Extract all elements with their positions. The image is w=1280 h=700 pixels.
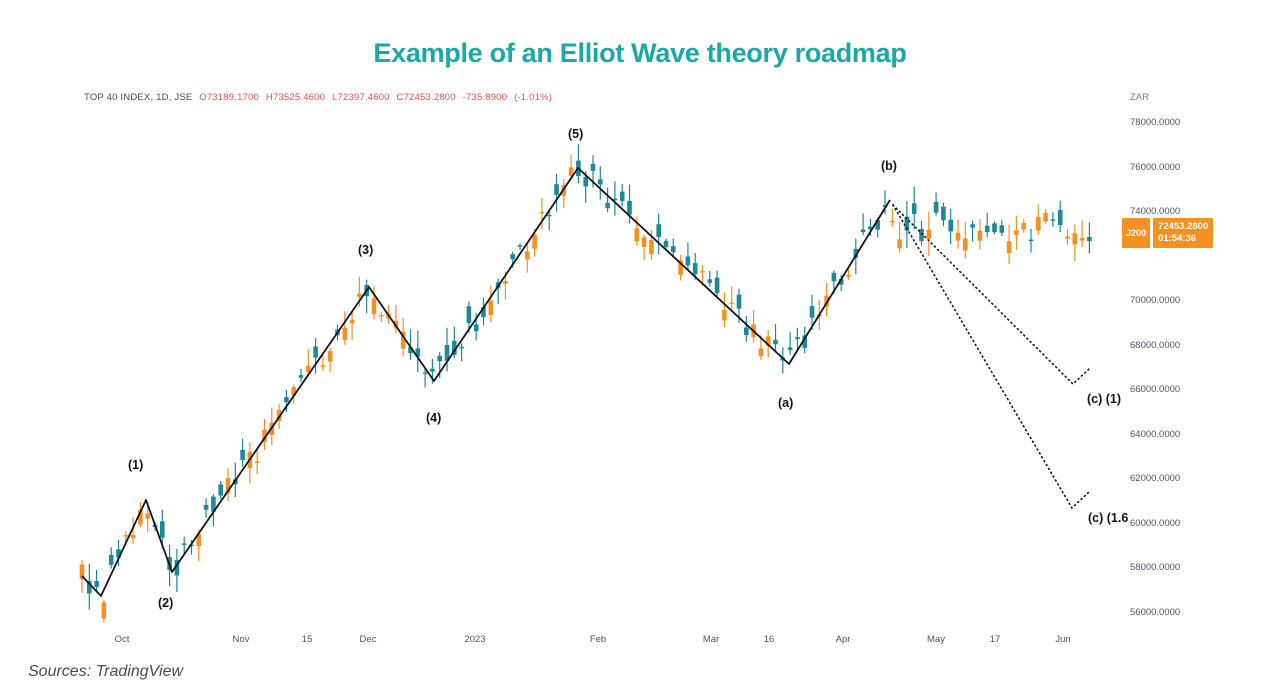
- candle-body: [459, 347, 464, 349]
- candle-body: [605, 203, 610, 208]
- candle-wick: [607, 187, 608, 212]
- source-caption: Sources: TradingView: [28, 663, 183, 681]
- time-tick: 2023: [464, 634, 485, 645]
- candle-wick: [987, 213, 988, 237]
- wave-label: (b): [881, 159, 897, 173]
- slide-canvas: Example of an Elliot Wave theory roadmap…: [0, 0, 1280, 700]
- candle-body: [708, 279, 713, 283]
- candle-body: [642, 237, 647, 247]
- candlestick-series: [78, 110, 1118, 635]
- projection-1.6: [893, 205, 1090, 508]
- wave-label: (3): [358, 243, 373, 257]
- price-tag-price: 72453.2800: [1158, 221, 1208, 233]
- legend-symbol: TOP 40 INDEX, 1D, JSE: [84, 92, 192, 103]
- candle-wick: [133, 517, 134, 544]
- candle-body: [94, 581, 99, 587]
- candle-body: [109, 555, 114, 565]
- candle-wick: [790, 332, 791, 355]
- candle-body: [941, 207, 946, 221]
- legend-open: O73189.1700: [199, 92, 259, 103]
- candle-body: [547, 215, 552, 216]
- candle-wick: [498, 278, 499, 304]
- candle-body: [722, 310, 727, 320]
- price-tick: 70000.0000: [1130, 295, 1180, 306]
- wave-label: (4): [426, 411, 441, 425]
- candle-wick: [352, 312, 353, 340]
- candle-wick: [366, 280, 367, 314]
- candle-body: [1073, 233, 1078, 244]
- candle-body: [810, 306, 815, 318]
- projection-group: [893, 205, 1090, 508]
- time-tick: Nov: [233, 634, 250, 645]
- candle-body: [124, 535, 129, 536]
- candle-body: [1000, 225, 1005, 232]
- legend-low: L72397.4600: [332, 92, 390, 103]
- candle-body: [372, 298, 377, 314]
- legend-change-percent: (-1.01%): [514, 92, 552, 103]
- candle-wick: [972, 221, 973, 242]
- candle-body: [671, 246, 676, 252]
- candle-body: [357, 294, 362, 297]
- candle-body: [635, 228, 640, 241]
- candle-body: [532, 235, 537, 249]
- candle-body: [510, 254, 515, 259]
- candle-wick: [461, 343, 462, 361]
- candle-body: [729, 302, 734, 303]
- legend-change: -735.8900: [463, 92, 508, 103]
- candle-group: [80, 144, 1092, 622]
- price-tick: 66000.0000: [1130, 384, 1180, 395]
- candle-body: [554, 184, 559, 195]
- candle-body: [1080, 238, 1085, 240]
- candle-body: [525, 251, 530, 259]
- price-tick: 68000.0000: [1130, 340, 1180, 351]
- candle-wick: [775, 324, 776, 353]
- candle-body: [430, 369, 435, 372]
- candle-body: [489, 301, 494, 315]
- candle-body: [846, 275, 851, 277]
- candle-body: [627, 201, 632, 215]
- candle-body: [861, 230, 866, 233]
- candle-body: [773, 340, 778, 345]
- candle-body: [299, 375, 304, 378]
- candle-wick: [381, 312, 382, 323]
- time-tick: Mar: [703, 634, 719, 645]
- candle-body: [744, 328, 749, 335]
- candle-body: [160, 521, 165, 537]
- candle-body: [321, 366, 326, 368]
- time-tick: Jun: [1055, 634, 1070, 645]
- candle-body: [350, 320, 355, 324]
- candle-wick: [541, 198, 542, 230]
- time-tick: May: [927, 634, 945, 645]
- elliot-wave-path: [82, 168, 890, 596]
- candle-body: [102, 603, 107, 619]
- candle-body: [970, 224, 975, 227]
- candle-body: [518, 245, 523, 246]
- candle-body: [1029, 240, 1034, 241]
- candle-body: [693, 263, 698, 274]
- time-tick: 15: [302, 634, 313, 645]
- price-tick: 64000.0000: [1130, 429, 1180, 440]
- candle-body: [620, 192, 625, 202]
- candle-body: [437, 356, 442, 361]
- candle-wick: [724, 292, 725, 327]
- candle-body: [328, 351, 333, 362]
- price-tick: 60000.0000: [1130, 518, 1180, 529]
- candle-body: [956, 233, 961, 241]
- candle-body: [467, 306, 472, 323]
- candle-wick: [863, 213, 864, 235]
- wave-label: (a): [778, 396, 793, 410]
- candle-body: [649, 240, 654, 254]
- candle-body: [686, 257, 691, 266]
- price-tick: 78000.0000: [1130, 117, 1180, 128]
- candle-body: [1021, 223, 1026, 229]
- candle-body: [795, 337, 800, 339]
- wave-label: (2): [158, 596, 173, 610]
- candle-body: [912, 203, 917, 214]
- last-price-tag: J200 72453.2800 01:54:36: [1122, 218, 1213, 248]
- candle-body: [890, 221, 895, 222]
- price-tag-value: 72453.2800 01:54:36: [1153, 218, 1213, 248]
- time-tick: Feb: [590, 634, 606, 645]
- legend-close: C72453.2800: [397, 92, 456, 103]
- candle-body: [240, 450, 245, 460]
- candle-body: [656, 224, 661, 237]
- time-tick: 16: [764, 634, 775, 645]
- candle-body: [474, 324, 479, 331]
- price-axis[interactable]: ZAR 78000.000076000.000074000.000070000.…: [1126, 88, 1216, 640]
- candle-wick: [96, 570, 97, 592]
- candle-body: [934, 202, 939, 213]
- candle-body: [204, 505, 209, 510]
- candle-body: [737, 295, 742, 309]
- candle-wick: [709, 271, 710, 287]
- legend-high: H73525.4600: [266, 92, 325, 103]
- price-tag-countdown: 01:54:36: [1158, 233, 1208, 245]
- candle-body: [788, 347, 793, 350]
- candle-body: [145, 514, 150, 519]
- candle-body: [992, 223, 997, 232]
- price-tick: 58000.0000: [1130, 562, 1180, 573]
- candle-wick: [395, 305, 396, 333]
- candle-wick: [410, 329, 411, 360]
- wave-label: (1): [128, 458, 143, 472]
- candle-body: [598, 179, 603, 184]
- candle-body: [503, 281, 508, 284]
- candle-wick: [425, 368, 426, 388]
- price-tick: 74000.0000: [1130, 206, 1180, 217]
- candle-body: [948, 220, 953, 232]
- candle-body: [131, 535, 136, 538]
- candle-body: [423, 373, 428, 374]
- time-tick: Oct: [115, 634, 130, 645]
- candle-body: [897, 239, 902, 248]
- candle-wick: [797, 328, 798, 351]
- price-tag-symbol: J200: [1122, 218, 1150, 248]
- tradingview-chart-widget[interactable]: TOP 40 INDEX, 1D, JSE O73189.1700 H73525…: [78, 88, 1198, 640]
- candle-body: [182, 543, 187, 545]
- candle-body: [284, 397, 289, 402]
- time-axis[interactable]: OctNov15Dec2023FebMar16AprMay17Jun: [78, 634, 1118, 656]
- candle-body: [540, 212, 545, 213]
- candle-body: [985, 226, 990, 232]
- price-tick: 62000.0000: [1130, 473, 1180, 484]
- candle-body: [218, 484, 223, 495]
- candle-body: [1043, 213, 1048, 222]
- candle-body: [379, 315, 384, 316]
- chart-plot-area[interactable]: [78, 110, 1118, 635]
- candle-wick: [322, 354, 323, 371]
- candle-wick: [1082, 221, 1083, 248]
- candle-body: [978, 231, 983, 241]
- page-title: Example of an Elliot Wave theory roadmap: [0, 38, 1280, 69]
- candle-body: [313, 346, 318, 357]
- candle-body: [255, 462, 260, 463]
- candle-body: [700, 271, 705, 272]
- candle-wick: [892, 209, 893, 227]
- time-tick: Apr: [836, 634, 851, 645]
- chart-legend: TOP 40 INDEX, 1D, JSE O73189.1700 H73525…: [84, 92, 552, 103]
- candle-body: [1051, 219, 1056, 220]
- candle-body: [1058, 210, 1063, 225]
- time-tick: 17: [990, 634, 1001, 645]
- candle-body: [1007, 241, 1012, 253]
- candle-body: [832, 273, 837, 282]
- candle-wick: [184, 537, 185, 555]
- candle-body: [664, 241, 669, 247]
- candle-body: [1036, 217, 1041, 231]
- candle-wick: [614, 181, 615, 216]
- candle-body: [343, 328, 348, 340]
- wave-label: (5): [568, 127, 583, 141]
- candle-body: [1014, 230, 1019, 235]
- candle-body: [1065, 236, 1070, 238]
- candle-body: [583, 177, 588, 187]
- candle-body: [715, 278, 720, 294]
- candle-body: [759, 349, 764, 356]
- price-tick: 56000.0000: [1130, 607, 1180, 618]
- candle-wick: [731, 287, 732, 311]
- candle-wick: [687, 243, 688, 270]
- price-tick: 76000.0000: [1130, 162, 1180, 173]
- wave-label: (c) (1): [1087, 392, 1121, 406]
- price-axis-currency-label: ZAR: [1130, 92, 1149, 103]
- wave-label: (c) (1.6: [1088, 511, 1128, 525]
- candle-body: [927, 230, 932, 239]
- candle-body: [591, 164, 596, 171]
- candle-body: [963, 238, 968, 250]
- candle-body: [1087, 237, 1092, 241]
- time-tick: Dec: [360, 634, 377, 645]
